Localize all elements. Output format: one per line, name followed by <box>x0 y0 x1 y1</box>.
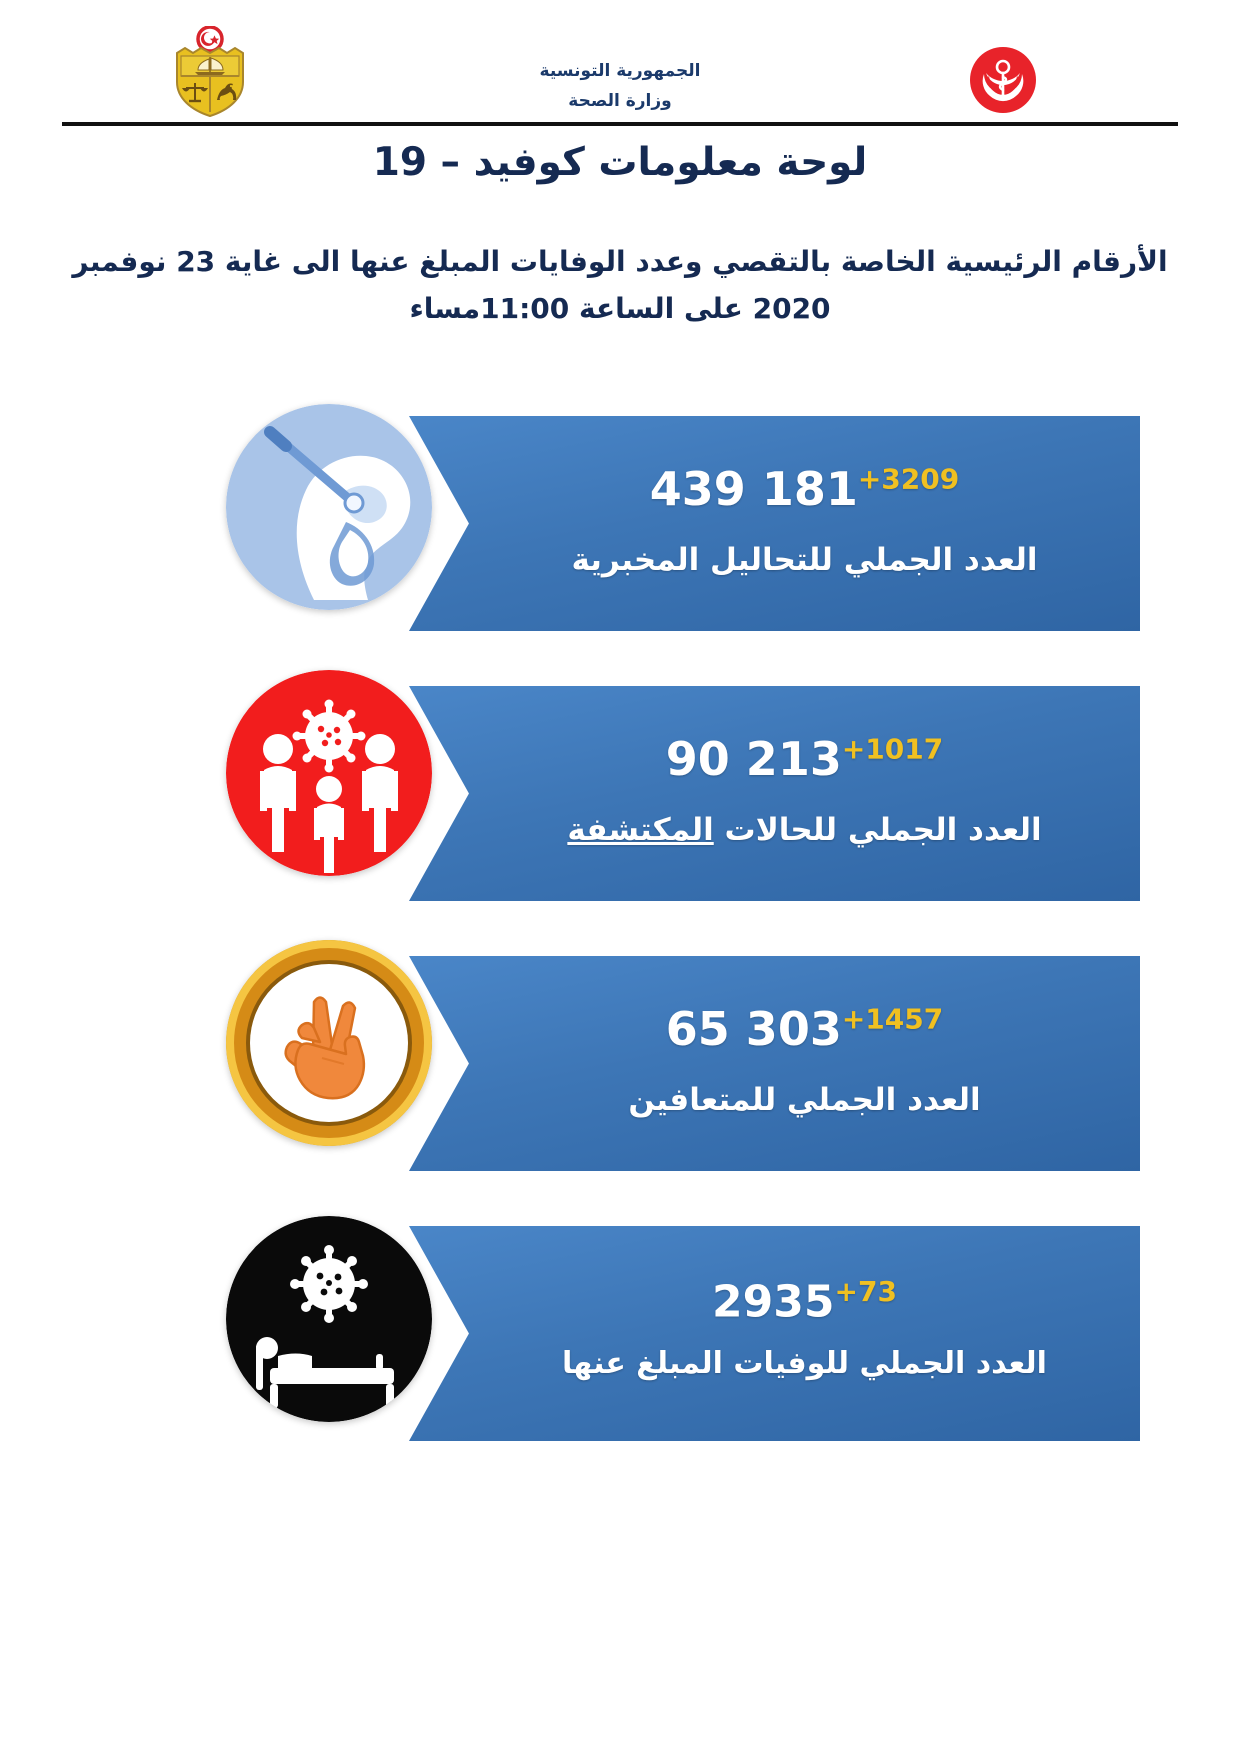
stat-cards: 439 181+3209 العدد الجملي للتحاليل المخب… <box>0 398 1240 1478</box>
republic-name: الجمهورية التونسية <box>0 56 1240 86</box>
ministry-name: وزارة الصحة <box>0 86 1240 116</box>
stat-label: العدد الجملي للحالات المكتشفة <box>567 810 1041 852</box>
stat-label-emphasis: المكتشفة <box>567 812 713 848</box>
nasal-swab-test-icon <box>226 404 432 610</box>
ministry-of-health-logo-icon <box>970 47 1036 113</box>
stat-card-confirmed-cases: 90 213+1017 العدد الجملي للحالات المكتشف… <box>0 668 1240 900</box>
patient-in-bed-virus-icon <box>226 1216 432 1422</box>
stat-label-text: العدد الجملي للمتعافين <box>628 1082 980 1118</box>
stat-value-text: 90 213 <box>666 732 842 786</box>
stat-card-deaths: 2935+73 العدد الجملي للوفيات المبلغ عنها <box>0 1208 1240 1440</box>
stat-delta: +1457 <box>842 1003 943 1036</box>
stat-label-text: العدد الجملي للتحاليل المخبرية <box>571 542 1037 578</box>
stat-value-text: 2935 <box>712 1277 834 1328</box>
stat-value-text: 439 181 <box>650 462 858 516</box>
stat-banner: 65 303+1457 العدد الجملي للمتعافين <box>409 956 1140 1171</box>
stat-card-recovered: 65 303+1457 العدد الجملي للمتعافين <box>0 938 1240 1170</box>
stat-banner: 439 181+3209 العدد الجملي للتحاليل المخب… <box>409 416 1140 631</box>
stat-card-lab-tests: 439 181+3209 العدد الجملي للتحاليل المخب… <box>0 398 1240 630</box>
people-virus-icon <box>226 670 432 876</box>
infographic-page: الجمهورية التونسية وزارة الصحة لوحة معلو… <box>0 0 1240 1754</box>
stat-value-text: 65 303 <box>666 1002 842 1056</box>
stat-label-text: العدد الجملي للحالات <box>714 812 1042 848</box>
page-header: الجمهورية التونسية وزارة الصحة <box>0 0 1240 118</box>
header-divider <box>62 122 1178 126</box>
stat-label: العدد الجملي للمتعافين <box>628 1080 980 1122</box>
stat-label: العدد الجملي للوفيات المبلغ عنها <box>562 1344 1047 1385</box>
stat-value: 90 213+1017 <box>666 735 943 783</box>
stat-label-text: العدد الجملي للوفيات المبلغ عنها <box>562 1346 1047 1381</box>
page-subtitle: الأرقام الرئيسية الخاصة بالتقصي وعدد الو… <box>40 238 1200 332</box>
victory-hand-icon <box>226 940 432 1146</box>
stat-delta: +73 <box>835 1275 897 1308</box>
stat-value: 439 181+3209 <box>650 465 959 513</box>
stat-banner: 2935+73 العدد الجملي للوفيات المبلغ عنها <box>409 1226 1140 1441</box>
subtitle-line-2: 2020 على الساعة 11:00مساء <box>40 285 1200 332</box>
stat-delta: +1017 <box>842 733 943 766</box>
stat-banner: 90 213+1017 العدد الجملي للحالات المكتشف… <box>409 686 1140 901</box>
stat-label: العدد الجملي للتحاليل المخبرية <box>571 540 1037 582</box>
stat-value: 2935+73 <box>712 1278 897 1326</box>
stat-delta: +3209 <box>858 463 959 496</box>
stat-value: 65 303+1457 <box>666 1005 943 1053</box>
page-title: لوحة معلومات كوفيد – 19 <box>0 140 1240 185</box>
header-title-block: الجمهورية التونسية وزارة الصحة <box>0 56 1240 116</box>
subtitle-line-1: الأرقام الرئيسية الخاصة بالتقصي وعدد الو… <box>40 238 1200 285</box>
